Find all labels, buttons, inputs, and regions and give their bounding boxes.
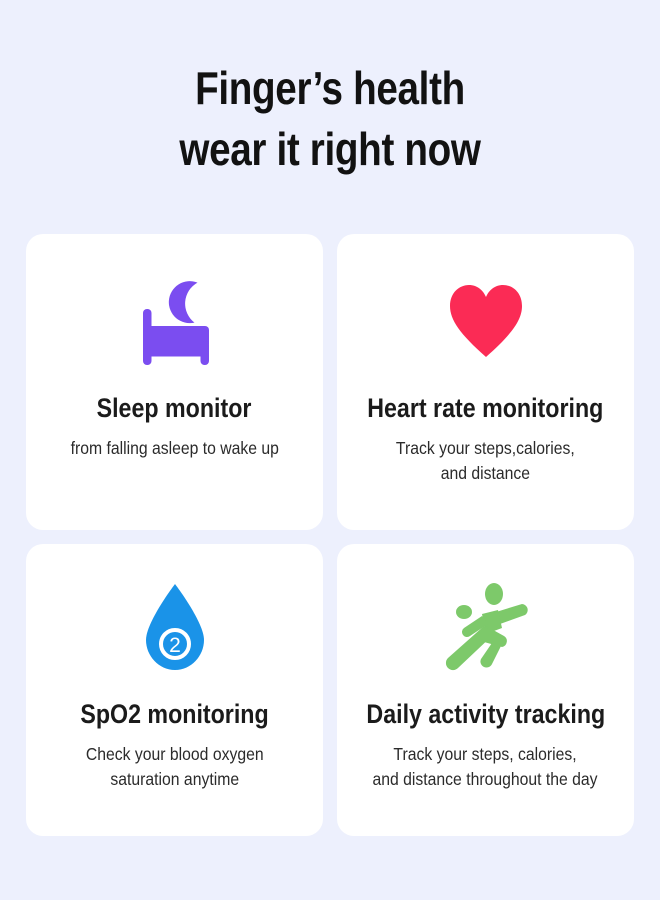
water-drop-o2-icon: 2 [26,562,323,694]
heart-icon [337,256,634,388]
feature-card-spo2[interactable]: 2 SpO2 monitoring Check your blood oxyge… [26,544,323,836]
feature-card-description: from falling asleep to wake up [58,436,292,461]
feature-card-grid: Sleep monitor from falling asleep to wak… [26,234,634,836]
drop-o2-number: 2 [169,634,181,657]
feature-card-title: Sleep monitor [97,394,252,424]
promo-page: Finger’s health wear it right now [0,0,660,900]
feature-card-title: SpO2 monitoring [80,700,268,730]
page-title: Finger’s health wear it right now [53,58,607,180]
page-title-line-1: Finger’s health [53,58,607,119]
feature-card-daily-activity[interactable]: Daily activity tracking Track your steps… [337,544,634,836]
feature-card-description: Track your steps,calories, and distance [383,436,587,487]
sleep-bed-moon-icon [26,256,323,388]
feature-card-sleep-monitor[interactable]: Sleep monitor from falling asleep to wak… [26,234,323,530]
page-title-line-2: wear it right now [53,119,607,180]
running-person-icon [337,562,634,694]
feature-card-heart-rate[interactable]: Heart rate monitoring Track your steps,c… [337,234,634,530]
feature-card-description: Check your blood oxygen saturation anyti… [73,742,276,793]
feature-card-title: Heart rate monitoring [367,394,603,424]
feature-card-description: Track your steps, calories, and distance… [360,742,610,793]
feature-card-title: Daily activity tracking [366,700,605,730]
